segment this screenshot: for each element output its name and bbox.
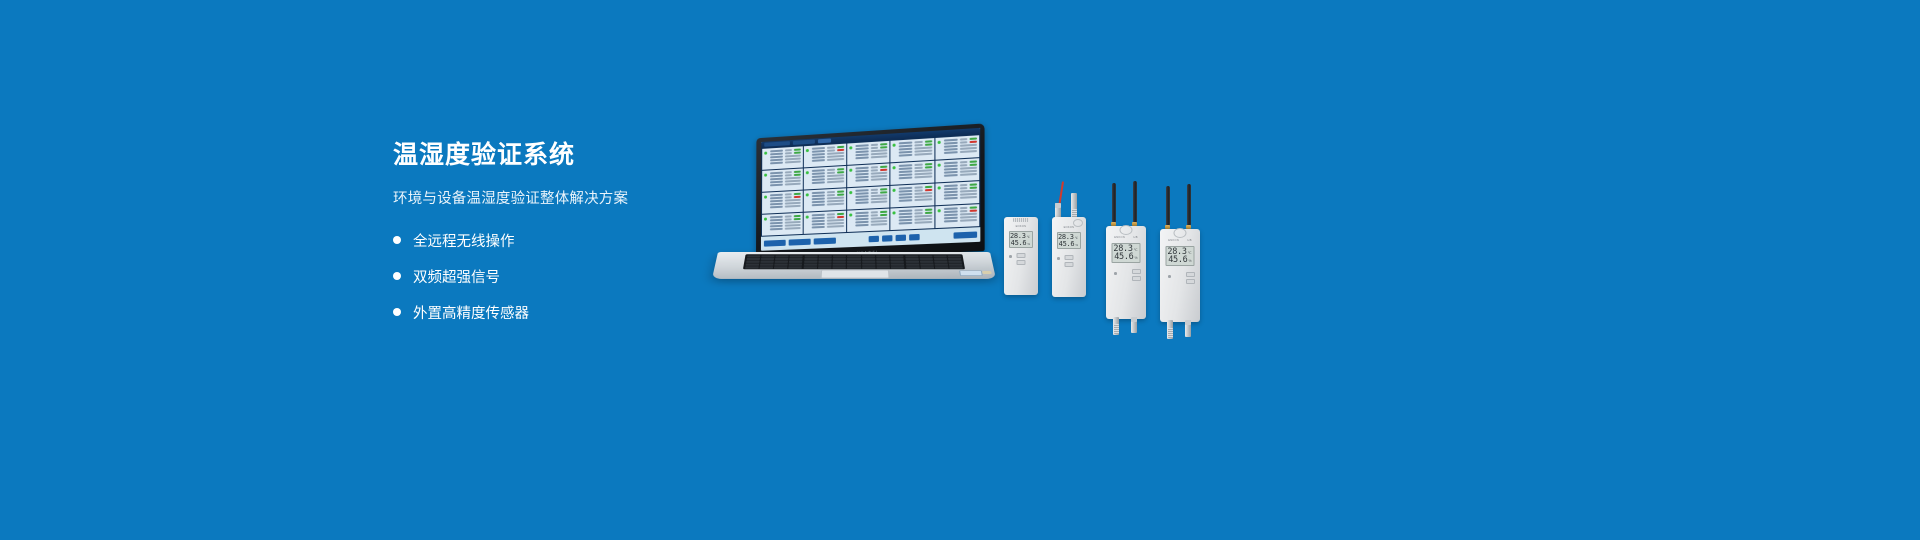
keyboard-key[interactable] <box>876 261 889 263</box>
cell-row <box>812 203 844 206</box>
device-body: ENKON HB 28.3 ℃ 45.6 % <box>1160 229 1200 322</box>
cell-field-value <box>959 141 967 143</box>
cell-field-value <box>871 214 879 216</box>
feature-label: 外置高精度传感器 <box>413 302 529 323</box>
cell-field-value <box>915 221 932 224</box>
cell-field-label <box>770 193 783 195</box>
probe-mesh-icon <box>1114 324 1119 334</box>
cell-row <box>812 225 844 228</box>
device-buttons[interactable] <box>1017 253 1026 265</box>
cell-field-label <box>855 156 868 159</box>
keyboard-key[interactable] <box>948 258 962 260</box>
cell-field-value <box>871 200 888 203</box>
cell-field-value <box>827 150 834 152</box>
cell-field-label <box>812 213 825 215</box>
keyboard-key[interactable] <box>804 263 818 265</box>
laptop-lid: HUAWEI <box>756 123 985 260</box>
cell-row <box>899 175 932 179</box>
monitor-cell[interactable] <box>762 146 803 170</box>
copy-block: 温湿度验证系统 环境与设备温湿度验证整体解决方案 全远程无线操作 双频超强信号 … <box>393 142 753 338</box>
probe-cap <box>1185 320 1191 325</box>
lcd-humidity-value: 45.6 <box>1168 256 1187 265</box>
cell-field-value <box>959 219 977 222</box>
lcd-humidity-value: 45.6 <box>1114 253 1133 262</box>
cell-field-value <box>915 212 923 214</box>
list-item: 双频超强信号 <box>393 266 753 287</box>
keyboard-key[interactable] <box>818 266 832 268</box>
device-button-down[interactable] <box>1017 260 1026 265</box>
cell-field-value <box>827 216 835 218</box>
monitor-cell[interactable] <box>804 188 846 211</box>
probe-sensor <box>1071 193 1077 220</box>
cell-status-pill <box>837 145 844 148</box>
cell-field-value <box>785 149 792 151</box>
device-body: ENKON HB 28.3 ℃ 45.6 % <box>1106 226 1146 319</box>
cell-row <box>770 205 801 208</box>
device-basic-logger: ENKON 28.3 ℃ 45.6 % <box>1004 217 1038 295</box>
cell-field-label <box>770 216 783 218</box>
cell-status-pill <box>880 169 887 172</box>
lcd-humidity-row: 45.6 % <box>1169 256 1192 265</box>
device-lcd: 28.3 ℃ 45.6 % <box>1057 232 1081 249</box>
cell-field-value <box>915 175 932 178</box>
keyboard-key[interactable] <box>949 263 963 265</box>
status-dot-icon <box>849 213 852 216</box>
page-button[interactable] <box>909 234 919 241</box>
cell-field-value <box>915 153 932 156</box>
cell-field-value <box>785 160 801 163</box>
monitor-cell[interactable] <box>804 144 846 168</box>
cell-status-pill <box>924 140 931 143</box>
lcd-humidity-unit: % <box>1188 260 1191 263</box>
cell-field-value <box>785 205 801 208</box>
banner-root: 温湿度验证系统 环境与设备温湿度验证整体解决方案 全远程无线操作 双频超强信号 … <box>0 0 1920 540</box>
fullscreen-button[interactable] <box>954 231 978 238</box>
cell-status-pill <box>970 186 978 189</box>
toolbar-button[interactable] <box>764 240 786 247</box>
device-model-label: HB <box>1134 236 1138 239</box>
cell-field-value <box>915 141 923 143</box>
cell-field-label <box>770 197 783 199</box>
keyboard-key[interactable] <box>818 263 831 265</box>
cell-field-label <box>770 219 783 221</box>
monitor-cell[interactable] <box>847 141 890 165</box>
cell-field-value <box>959 150 977 153</box>
cell-field-value <box>871 155 888 158</box>
cell-field-label <box>770 171 783 174</box>
cell-field-value <box>827 146 834 148</box>
status-dot-icon <box>806 149 809 152</box>
keyboard-key[interactable] <box>877 266 891 268</box>
cell-status-pill <box>794 192 801 195</box>
status-dot-icon <box>806 193 809 196</box>
keyboard-key[interactable] <box>949 261 963 263</box>
keyboard-key[interactable] <box>789 263 803 265</box>
keyboard-key[interactable] <box>862 261 875 263</box>
keyboard-key[interactable] <box>818 261 831 263</box>
keyboard-key[interactable] <box>905 261 918 263</box>
device-button-down[interactable] <box>1132 276 1141 281</box>
monitor-cell[interactable] <box>762 168 803 191</box>
cell-field-label <box>944 188 958 191</box>
cell-field-label <box>855 211 868 213</box>
keyboard-key[interactable] <box>833 258 846 260</box>
cell-field-value <box>827 203 844 206</box>
status-dot-icon <box>849 146 852 149</box>
keyboard-key[interactable] <box>760 261 774 263</box>
keyboard-key[interactable] <box>759 266 773 268</box>
lcd-temperature-unit: ℃ <box>1188 252 1192 255</box>
monitor-cell[interactable] <box>891 184 934 208</box>
cell-field-value <box>827 180 844 183</box>
device-led-icon <box>1168 275 1171 278</box>
cell-field-label <box>943 161 957 164</box>
cell-status-pill <box>837 168 844 171</box>
cell-row <box>944 196 978 200</box>
device-label-row: ENKON HB <box>1106 236 1146 239</box>
device-wireless-logger: ENKON HB 28.3 ℃ 45.6 % <box>1106 185 1146 319</box>
keyboard-key[interactable] <box>862 266 875 268</box>
device-buttons[interactable] <box>1132 269 1141 281</box>
keyboard-key[interactable] <box>775 261 789 263</box>
device-brand-label: ENKON <box>1114 236 1125 239</box>
keyboard-key[interactable] <box>746 261 760 263</box>
keyboard-key[interactable] <box>818 258 831 260</box>
keyboard-key[interactable] <box>774 266 788 268</box>
cell-field-value <box>959 187 967 189</box>
status-dot-icon <box>806 215 809 218</box>
device-brand-label: ENKON <box>1168 239 1179 242</box>
device-body: ENKON 28.3 ℃ 45.6 % <box>1052 217 1086 297</box>
keyboard-key[interactable] <box>804 258 817 260</box>
cell-status-pill <box>924 162 931 165</box>
cell-row <box>899 198 932 202</box>
cell-field-label <box>944 220 958 223</box>
cell-field-label <box>943 151 957 154</box>
monitor-cell[interactable] <box>891 161 934 185</box>
page-button[interactable] <box>896 235 906 242</box>
cell-status-pill <box>924 166 931 169</box>
antenna-icon <box>1112 183 1116 223</box>
cell-field-label <box>855 215 868 217</box>
bullet-dot-icon <box>393 272 401 280</box>
cell-field-value <box>827 213 835 215</box>
status-dot-icon <box>764 174 767 177</box>
lcd-humidity-row: 45.6 % <box>1060 241 1078 248</box>
keyboard-key[interactable] <box>906 266 920 268</box>
cell-status-pill <box>880 191 887 194</box>
keyboard-key[interactable] <box>833 266 846 268</box>
monitor-cell[interactable] <box>891 206 934 230</box>
page-button[interactable] <box>869 236 879 243</box>
lcd-humidity-value: 45.6 <box>1011 240 1027 247</box>
toolbar-spacer <box>839 239 866 240</box>
list-item: 外置高精度传感器 <box>393 302 753 323</box>
cell-field-value <box>915 209 923 211</box>
device-led-icon <box>1114 272 1117 275</box>
monitor-cell[interactable] <box>847 163 890 187</box>
device-probe-logger: ENKON 28.3 ℃ 45.6 % <box>1052 207 1086 297</box>
monitor-cell[interactable] <box>847 186 890 210</box>
cell-field-label <box>899 176 913 179</box>
cell-status-pill <box>970 140 978 143</box>
lcd-humidity-value: 45.6 <box>1059 241 1075 248</box>
keyboard-key[interactable] <box>760 263 774 265</box>
keyboard-key[interactable] <box>935 266 949 268</box>
cell-status-pill <box>924 212 931 215</box>
cell-field-value <box>827 168 834 170</box>
keyboard-key[interactable] <box>746 258 760 260</box>
keyboard-key[interactable] <box>919 258 932 260</box>
laptop-keyboard[interactable] <box>743 254 965 269</box>
lcd-temperature-unit: ℃ <box>1027 236 1030 239</box>
probe-sensor <box>1113 317 1119 335</box>
cell-field-label <box>770 184 783 187</box>
cell-field-value <box>785 174 792 176</box>
device-led-icon <box>1009 255 1012 258</box>
keyboard-key[interactable] <box>906 263 920 265</box>
lcd-humidity-unit: % <box>1134 257 1137 260</box>
cell-field-value <box>915 186 923 188</box>
keyboard-key[interactable] <box>833 261 846 263</box>
status-dot-icon <box>937 141 940 144</box>
cell-field-value <box>959 196 977 199</box>
cell-field-label <box>899 154 913 157</box>
cell-status-pill <box>970 137 978 140</box>
cell-field-value <box>871 147 879 149</box>
cell-field-value <box>785 227 801 230</box>
keyboard-key[interactable] <box>761 258 775 260</box>
device-button-up[interactable] <box>1017 253 1026 258</box>
keyboard-key[interactable] <box>847 258 860 260</box>
lcd-humidity-unit: % <box>1027 243 1030 246</box>
antenna-icon <box>1187 184 1191 226</box>
feature-label: 双频超强信号 <box>413 266 500 287</box>
cell-field-label <box>899 199 913 202</box>
cell-field-value <box>827 225 844 228</box>
status-dot-icon <box>937 164 940 167</box>
cell-field-label <box>944 211 958 214</box>
cell-field-label <box>899 213 913 215</box>
cell-status-pill <box>837 171 844 174</box>
cell-field-value <box>959 173 977 176</box>
device-buttons[interactable] <box>1186 272 1195 284</box>
device-button-up[interactable] <box>1132 269 1141 274</box>
page-button[interactable] <box>882 235 892 242</box>
monitor-cell[interactable] <box>847 209 890 232</box>
cell-field-label <box>944 197 958 200</box>
device-button-down[interactable] <box>1065 262 1074 267</box>
keyboard-key[interactable] <box>876 258 889 260</box>
cell-field-value <box>915 190 923 192</box>
monitor-grid <box>761 134 980 237</box>
bullet-dot-icon <box>393 236 401 244</box>
cell-field-label <box>855 224 868 226</box>
monitor-cell[interactable] <box>762 213 803 236</box>
keyboard-key[interactable] <box>920 266 934 268</box>
cell-status-pill <box>880 143 887 146</box>
status-dot-icon <box>764 218 767 221</box>
monitor-cell[interactable] <box>891 138 934 162</box>
cell-field-label <box>943 174 957 177</box>
antenna-icon <box>1166 186 1170 226</box>
cell-field-value <box>871 166 879 168</box>
status-dot-icon <box>893 144 896 147</box>
monitor-cell[interactable] <box>935 204 979 228</box>
keyboard-key[interactable] <box>891 258 904 260</box>
cell-field-value <box>959 138 967 140</box>
keyboard-key[interactable] <box>862 263 875 265</box>
cell-status-pill <box>837 149 844 152</box>
cell-field-label <box>770 228 783 230</box>
device-hang-loop <box>1120 225 1133 235</box>
status-dot-icon <box>849 191 852 194</box>
keyboard-key[interactable] <box>847 261 860 263</box>
monitor-cell[interactable] <box>804 211 846 234</box>
keyboard-key[interactable] <box>745 263 759 265</box>
keyboard-key[interactable] <box>891 266 905 268</box>
keyboard-key[interactable] <box>935 263 949 265</box>
laptop-base <box>712 252 996 279</box>
cell-field-value <box>827 191 835 193</box>
feature-list: 全远程无线操作 双频超强信号 外置高精度传感器 <box>393 230 753 323</box>
cell-field-value <box>959 184 967 186</box>
device-button-up[interactable] <box>1065 255 1074 260</box>
cell-field-value <box>785 219 792 221</box>
device-wireless-logger: ENKON HB 28.3 ℃ 45.6 % <box>1160 187 1200 322</box>
cell-status-pill <box>970 206 978 209</box>
cell-field-label <box>855 201 868 204</box>
cell-field-value <box>827 158 844 161</box>
cell-field-value <box>959 164 967 166</box>
cell-field-label <box>770 175 783 178</box>
status-dot-icon <box>937 186 940 189</box>
keyboard-key[interactable] <box>804 261 817 263</box>
cell-status-pill <box>880 210 887 213</box>
keyboard-key[interactable] <box>775 258 788 260</box>
device-hang-loop <box>1174 228 1187 238</box>
cell-status-pill <box>880 188 887 191</box>
keyboard-key[interactable] <box>774 263 788 265</box>
device-model-label: HB <box>1188 239 1192 242</box>
page-subtitle: 环境与设备温湿度验证整体解决方案 <box>393 187 753 208</box>
cell-status-pill <box>837 216 844 219</box>
keyboard-key[interactable] <box>934 258 948 260</box>
cell-status-pill <box>837 212 844 215</box>
lcd-temperature-unit: ℃ <box>1134 249 1138 252</box>
cell-field-value <box>871 192 879 194</box>
device-button-up[interactable] <box>1186 272 1195 277</box>
cell-field-value <box>871 211 879 213</box>
keyboard-key[interactable] <box>789 266 803 268</box>
keyboard-key[interactable] <box>920 261 934 263</box>
cell-field-label <box>770 161 783 164</box>
cell-status-pill <box>794 214 801 217</box>
cell-status-pill <box>970 163 978 166</box>
keyboard-key[interactable] <box>905 258 918 260</box>
device-group: ENKON 28.3 ℃ 45.6 % <box>1000 185 1220 315</box>
keyboard-key[interactable] <box>803 266 817 268</box>
keyboard-key[interactable] <box>745 266 759 268</box>
cell-field-label <box>812 181 825 184</box>
device-brand-label: ENKON <box>1052 226 1086 229</box>
antenna-icon <box>1133 181 1137 223</box>
keyboard-key[interactable] <box>920 263 934 265</box>
keyboard-key[interactable] <box>862 258 875 260</box>
monitor-cell[interactable] <box>935 181 979 205</box>
probe-cap <box>1055 203 1061 208</box>
cell-field-label <box>812 159 825 162</box>
status-dot-icon <box>806 171 809 174</box>
keyboard-key[interactable] <box>934 261 948 263</box>
cell-status-pill <box>794 170 801 173</box>
monitor-cell[interactable] <box>762 191 803 214</box>
cell-row <box>770 183 801 187</box>
cell-row <box>899 221 932 224</box>
toolbar-spacer <box>923 236 951 237</box>
keyboard-key[interactable] <box>789 258 802 260</box>
monitor-cell[interactable] <box>935 158 979 182</box>
laptop-trackpad[interactable] <box>821 270 890 278</box>
cell-field-label <box>812 172 825 175</box>
page-title: 温湿度验证系统 <box>393 142 753 170</box>
cell-field-value <box>785 183 801 186</box>
probe-mesh-icon <box>1168 328 1173 338</box>
laptop-screen <box>761 128 980 251</box>
keyboard-key[interactable] <box>847 263 860 265</box>
cell-row <box>812 180 844 184</box>
device-brand-label: ENKON <box>1004 225 1038 228</box>
cell-row <box>944 219 978 222</box>
device-lcd: 28.3 ℃ 45.6 % <box>1009 231 1033 248</box>
device-vent-icon <box>1013 218 1029 222</box>
probe-connector <box>1185 320 1191 337</box>
cell-field-label <box>812 203 825 205</box>
device-label-row: ENKON HB <box>1160 239 1200 242</box>
toolbar-button[interactable] <box>789 239 811 246</box>
keyboard-key[interactable] <box>876 263 889 265</box>
cell-field-label <box>899 187 913 190</box>
cell-field-value <box>871 143 879 145</box>
cell-status-pill <box>794 173 801 176</box>
status-dot-icon <box>764 196 767 199</box>
cell-field-label <box>899 190 913 193</box>
keyboard-key[interactable] <box>789 261 802 263</box>
keyboard-key[interactable] <box>833 263 846 265</box>
cell-field-value <box>827 194 835 196</box>
status-dot-icon <box>937 209 940 212</box>
lcd-humidity-row: 45.6 % <box>1115 253 1138 262</box>
monitor-cell[interactable] <box>804 166 846 190</box>
status-dot-icon <box>764 152 767 155</box>
cell-status-pill <box>837 193 844 196</box>
keyboard-key[interactable] <box>891 261 904 263</box>
cell-status-pill <box>924 185 931 188</box>
keyboard-key[interactable] <box>847 266 860 268</box>
laptop-sticker <box>959 270 983 275</box>
toolbar-button[interactable] <box>814 238 836 245</box>
cell-field-value <box>915 167 923 169</box>
monitor-cell[interactable] <box>935 135 979 159</box>
cell-field-value <box>785 152 792 154</box>
lcd-humidity-row: 45.6 % <box>1012 240 1030 247</box>
keyboard-key[interactable] <box>950 266 964 268</box>
cell-field-value <box>871 188 879 190</box>
keyboard-key[interactable] <box>891 263 905 265</box>
lcd-temperature-unit: ℃ <box>1075 237 1078 240</box>
device-button-down[interactable] <box>1186 279 1195 284</box>
device-buttons[interactable] <box>1065 255 1074 267</box>
